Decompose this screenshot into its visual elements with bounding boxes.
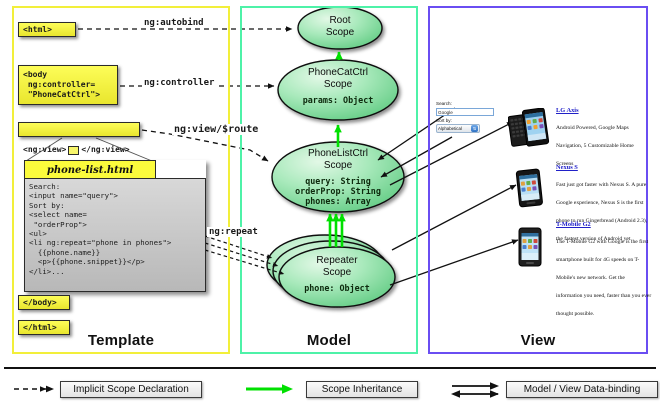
search-input[interactable]: Google <box>436 108 494 116</box>
sort-select-value: Alphabetical <box>438 126 462 132</box>
tag-html-close: </html> <box>18 320 70 335</box>
angularjs-architecture-diagram: Template Model View <html> <body ng:cont… <box>0 0 660 405</box>
column-frame-model <box>240 6 418 354</box>
legend-icon-dashed-arrow <box>14 383 56 395</box>
phone-thumbnail-0 <box>508 108 550 154</box>
legend-divider <box>4 367 656 369</box>
callout-code: Search: <input name="query"> Sort by: <s… <box>24 178 206 292</box>
legend-icon-solid-green-arrow <box>246 383 294 395</box>
legend-label-implicit-scope-declaration: Implicit Scope Declaration <box>60 381 202 398</box>
template-callout-phone-list: phone-list.html Search: <input name="que… <box>24 160 206 292</box>
phone-list-item: T-Mobile G2 The T-Mobile G2 with Google … <box>556 221 652 320</box>
sort-label: Sort by: <box>436 118 496 124</box>
tag-ngview: <ng:view> </ng:view> <box>18 122 140 137</box>
search-label: Search: <box>436 101 496 107</box>
ngview-placeholder-icon <box>68 146 79 155</box>
connector-label-repeat: ng:repeat <box>207 227 260 237</box>
tag-ngview-close: </ng:view> <box>81 145 129 155</box>
sort-select[interactable]: Alphabetical ⇅ <box>436 124 480 133</box>
phone-thumbnail-1 <box>512 168 546 210</box>
phone-list-item: LG Axis Android Powered, Google Maps Nav… <box>556 107 652 170</box>
phone-name-link[interactable]: LG Axis <box>556 107 652 114</box>
legend-label-data-binding: Model / View Data-binding <box>506 381 658 398</box>
phone-snippet: Android Powered, Google Maps Navigation,… <box>556 125 634 167</box>
column-label-view: View <box>428 332 648 349</box>
tag-ngview-open: <ng:view> <box>23 145 66 155</box>
tag-body-open: <body ng:controller= "PhoneCatCtrl"> <box>18 65 118 105</box>
phone-name-link[interactable]: Nexus S <box>556 164 652 171</box>
chevron-updown-icon: ⇅ <box>471 125 478 132</box>
legend-label-scope-inheritance: Scope Inheritance <box>306 381 418 398</box>
phone-snippet: The T-Mobile G2 with Google is the first… <box>556 239 651 317</box>
legend-icon-double-arrow <box>450 380 500 400</box>
phone-thumbnail-2 <box>514 226 546 270</box>
column-label-model: Model <box>240 332 418 349</box>
tag-html-open: <html> <box>18 22 76 37</box>
callout-title: phone-list.html <box>24 160 156 179</box>
view-search-panel: Search: Google Sort by: Alphabetical ⇅ <box>436 101 496 133</box>
connector-label-controller: ng:controller <box>142 78 216 88</box>
connector-label-route: ng:view/$route <box>172 124 260 135</box>
phone-name-link[interactable]: T-Mobile G2 <box>556 221 652 228</box>
connector-label-autobind: ng:autobind <box>142 18 206 28</box>
tag-body-close: </body> <box>18 295 70 310</box>
